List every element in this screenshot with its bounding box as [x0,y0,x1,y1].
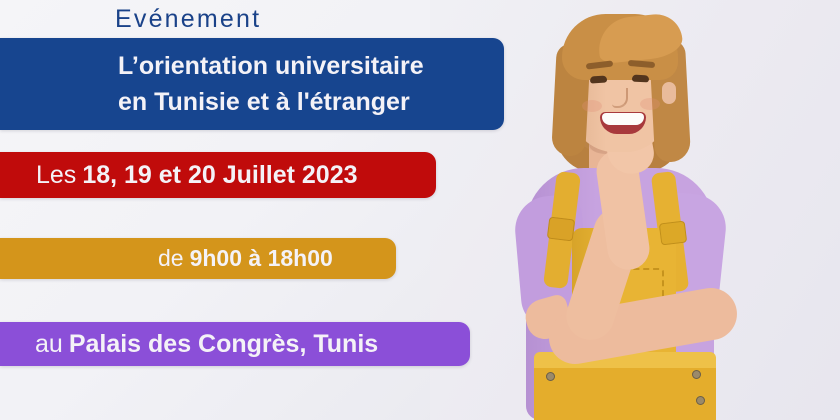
overall-buckle-left [547,216,575,241]
event-title-line-1: L’orientation universitaire [118,48,424,84]
overall-button-3 [696,396,705,405]
event-time-prefix: de [158,245,184,272]
overall-button-2 [692,370,701,379]
event-date-prefix: Les [36,161,76,190]
event-place-pill: au Palais des Congrès, Tunis [0,322,470,366]
overall-button-1 [546,372,555,381]
smiling-mouth [600,112,646,134]
event-date-value: 18, 19 et 20 Juillet 2023 [82,161,357,190]
event-time-pill: de 9h00 à 18h00 [0,238,396,279]
eye-left [590,75,607,83]
event-place-prefix: au [35,330,63,359]
event-time-value: 9h00 à 18h00 [190,245,333,272]
ear-right [662,82,676,104]
event-title-line-2: en Tunisie et à l'étranger [118,84,410,120]
overall-buckle-right [659,220,687,245]
event-place-value: Palais des Congrès, Tunis [69,330,378,359]
cheek-left [582,100,602,112]
eye-right [632,75,649,83]
event-promo-banner: Evénement L’orientation universitaire en… [0,0,840,420]
event-kicker: Evénement [115,2,261,36]
event-date-pill: Les 18, 19 et 20 Juillet 2023 [0,152,436,198]
teeth [602,113,644,125]
event-title-pill: L’orientation universitaire en Tunisie e… [0,38,504,130]
cheek-right [640,98,660,110]
